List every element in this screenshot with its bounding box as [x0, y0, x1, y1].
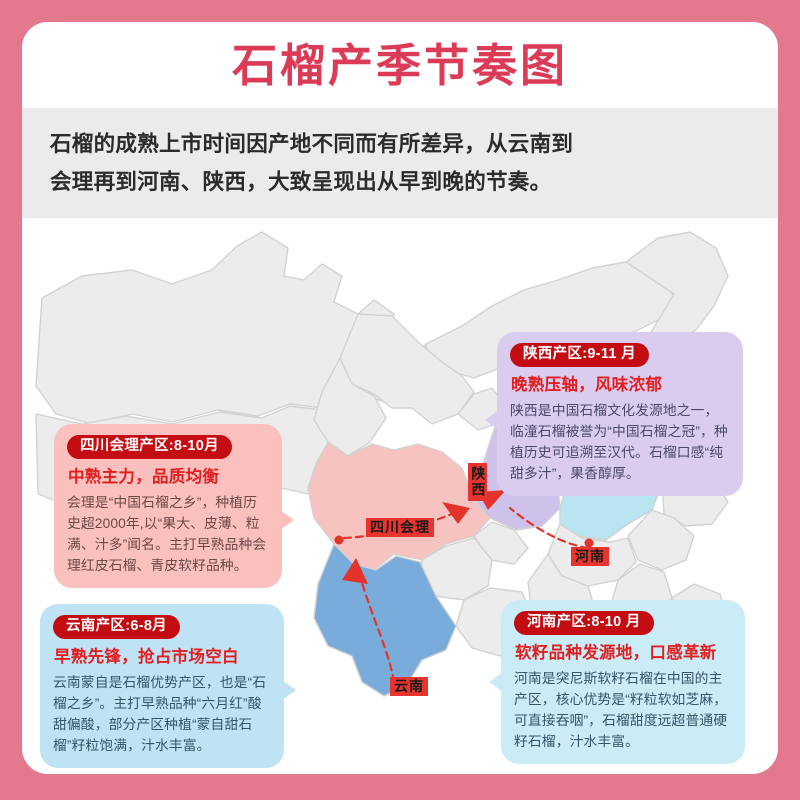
- henan-headline: 软籽品种发源地，口感革新: [515, 643, 732, 664]
- sichuan-body: 会理是“中国石榴之乡”，种植历史超2000年,以“果大、皮薄、粒满、汁多”闻名。…: [67, 492, 269, 576]
- info-card-henan: 河南产区:8-10 月 软籽品种发源地，口感革新 河南是突尼斯软籽石榴在中国的主…: [501, 600, 745, 764]
- henan-season-badge: 河南产区:8-10 月: [514, 611, 654, 635]
- header: 石榴产季节奏图: [22, 22, 778, 108]
- shaanxi-season-badge: 陕西产区:9-11 月: [510, 343, 649, 367]
- poster-frame: 石榴产季节奏图 石榴的成熟上市时间因产地不同而有所差异，从云南到 会理再到河南、…: [0, 0, 800, 800]
- subtitle-line-1: 石榴的成熟上市时间因产地不同而有所差异，从云南到: [50, 125, 750, 163]
- page-title: 石榴产季节奏图: [232, 43, 568, 88]
- yunnan-body: 云南蒙自是石榴优势产区，也是“石榴之乡”。主打早熟品种“六月红”酸甜偏酸，部分产…: [53, 672, 271, 756]
- map-label-yunnan: 云南: [390, 677, 428, 696]
- shaanxi-headline: 晚熟压轴，风味浓郁: [511, 375, 730, 396]
- info-card-yunnan: 云南产区:6-8月 早熟先锋，抢占市场空白 云南蒙自是石榴优势产区，也是“石榴之…: [40, 604, 284, 768]
- card-tail: [280, 510, 294, 530]
- henan-body: 河南是突尼斯软籽石榴在中国的主产区，核心优势是“籽粒软如芝麻，可直接吞咽”，石榴…: [514, 668, 732, 752]
- info-card-sichuan: 四川会理产区:8-10月 中熟主力，品质均衡 会理是“中国石榴之乡”，种植历史超…: [54, 424, 282, 588]
- china-map: 陕西 河南 四川会理 云南 四川会理产区:8-10月 中熟主力，品质均衡 会理是…: [22, 218, 778, 774]
- shaanxi-body: 陕西是中国石榴文化发源地之一，临潼石榴被誉为“中国石榴之冠”，种植历史可追溯至汉…: [510, 400, 730, 484]
- map-label-shaanxi: 陕西: [468, 463, 487, 501]
- info-card-shaanxi: 陕西产区:9-11 月 晚熟压轴，风味浓郁 陕西是中国石榴文化发源地之一，临潼石…: [497, 332, 743, 496]
- card-tail: [282, 680, 296, 700]
- yunnan-season-badge: 云南产区:6-8月: [53, 615, 180, 639]
- card-tail: [485, 410, 499, 430]
- subtitle-line-2: 会理再到河南、陕西，大致呈现出从早到晚的节奏。: [50, 163, 750, 201]
- map-label-sichuan: 四川会理: [366, 518, 434, 537]
- sichuan-headline: 中熟主力，品质均衡: [68, 467, 269, 488]
- poster-card: 石榴产季节奏图 石榴的成熟上市时间因产地不同而有所差异，从云南到 会理再到河南、…: [22, 22, 778, 774]
- sichuan-season-badge: 四川会理产区:8-10月: [67, 435, 232, 459]
- yunnan-headline: 早熟先锋，抢占市场空白: [54, 647, 271, 668]
- subtitle-bar: 石榴的成熟上市时间因产地不同而有所差异，从云南到 会理再到河南、陕西，大致呈现出…: [22, 108, 778, 218]
- map-label-henan: 河南: [571, 547, 609, 566]
- card-tail: [489, 672, 503, 692]
